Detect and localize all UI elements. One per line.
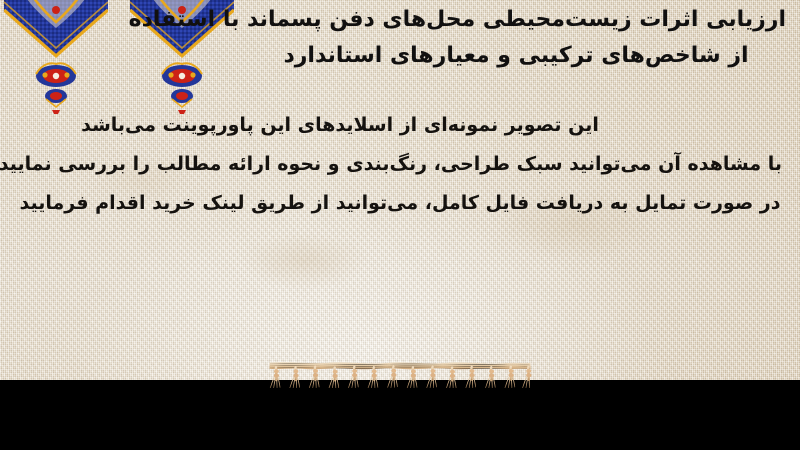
slide-canvas: ارزیابی اثرات زیست‌محیطی محل‌های دفن پسم… xyxy=(0,0,800,450)
body-line-3: در صورت تمایل به دریافت فایل کامل، می‌تو… xyxy=(18,184,782,223)
title-line-2: از شاخص‌های ترکیبی و معیارهای استاندارد xyxy=(226,38,786,74)
body-line-1: این تصویر نمونه‌ای از اسلایدهای این پاور… xyxy=(18,106,782,145)
carpet-fringe xyxy=(0,358,800,450)
title-line-1: ارزیابی اثرات زیست‌محیطی محل‌های دفن پسم… xyxy=(226,2,786,38)
body-line-2: با مشاهده آن می‌توانید سبک طراحی، رنگ‌بن… xyxy=(18,145,782,184)
slide-title: ارزیابی اثرات زیست‌محیطی محل‌های دفن پسم… xyxy=(226,2,786,74)
slide-body-text: این تصویر نمونه‌ای از اسلایدهای این پاور… xyxy=(18,106,782,223)
fringe-black-backdrop xyxy=(0,380,800,450)
